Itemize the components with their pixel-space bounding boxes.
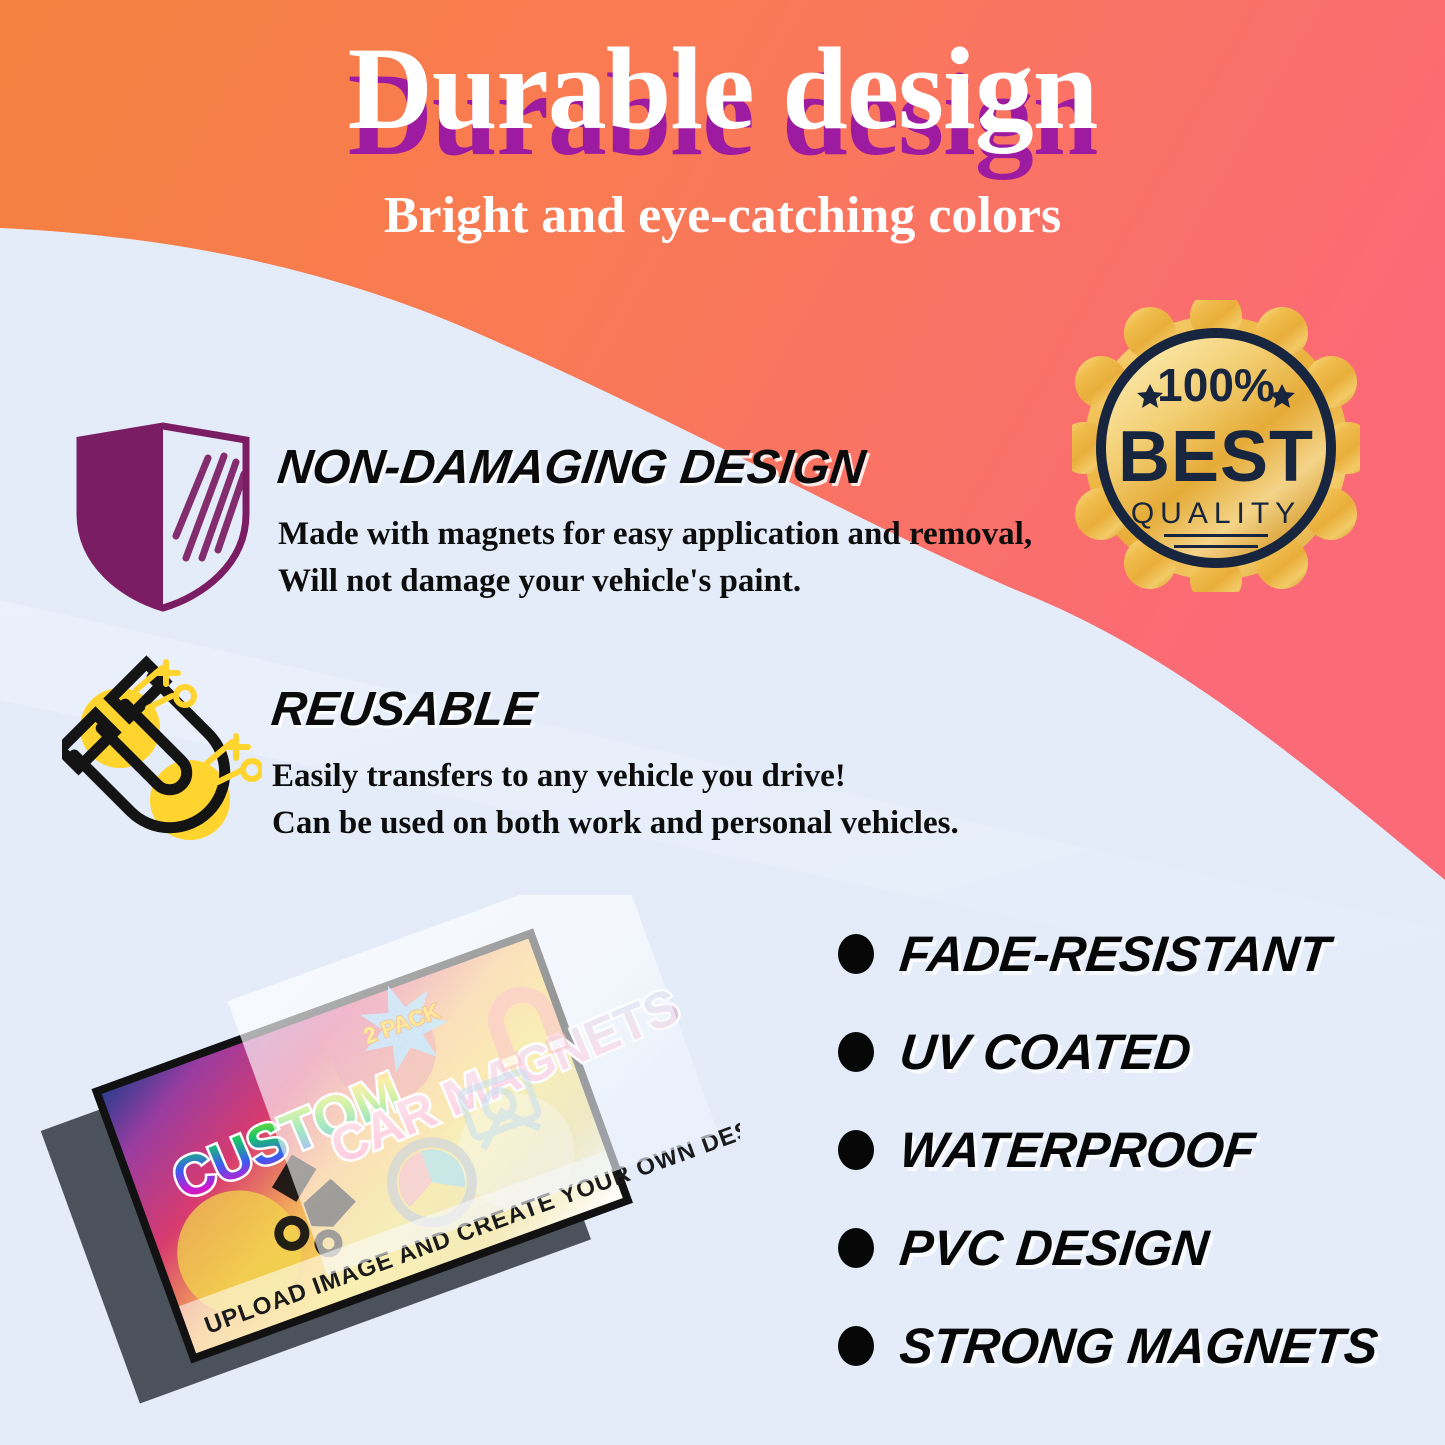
best-quality-badge: 100% BEST QUALITY (1072, 300, 1360, 592)
page-subtitle: Bright and eye-catching colors (0, 186, 1445, 245)
list-item-label: FADE-RESISTANT (897, 925, 1333, 983)
feature-title: REUSABLE (269, 682, 962, 737)
product-photo: CUSTOM CAR MAGNETS 2 PACK (40, 895, 740, 1415)
list-item: STRONG MAGNETS (838, 1297, 1418, 1395)
feature-body: NON-DAMAGING DESIGN Made with magnets fo… (278, 440, 1032, 605)
page-title: Durable design (0, 30, 1445, 148)
list-item-label: STRONG MAGNETS (897, 1317, 1381, 1375)
list-item: WATERPROOF (838, 1101, 1418, 1199)
list-item-label: WATERPROOF (897, 1121, 1258, 1179)
bullet-dot-icon (838, 934, 874, 974)
list-item: PVC DESIGN (838, 1199, 1418, 1297)
bullet-dot-icon (838, 1228, 874, 1268)
list-item: UV COATED (838, 1003, 1418, 1101)
list-item: FADE-RESISTANT (838, 905, 1418, 1003)
list-item-label: PVC DESIGN (897, 1219, 1212, 1277)
feature-non-damaging: NON-DAMAGING DESIGN Made with magnets fo… (68, 418, 1078, 618)
benefits-list: FADE-RESISTANT UV COATED WATERPROOF PVC … (838, 905, 1418, 1395)
feature-title: NON-DAMAGING DESIGN (275, 440, 1036, 495)
title-stack: Durable design Durable design (0, 28, 1445, 178)
bullet-dot-icon (838, 1326, 874, 1366)
bullet-dot-icon (838, 1130, 874, 1170)
bullet-dot-icon (838, 1032, 874, 1072)
feature-line: Made with magnets for easy application a… (278, 511, 1032, 558)
badge-percent: 100% (1157, 359, 1275, 411)
shield-icon (68, 418, 258, 618)
feature-line: Will not damage your vehicle's paint. (278, 558, 1032, 605)
list-item-label: UV COATED (897, 1023, 1194, 1081)
badge-word-main: BEST (1118, 417, 1314, 497)
feature-reusable: REUSABLE Easily transfers to any vehicle… (62, 650, 1072, 870)
header: Durable design Durable design Bright and… (0, 0, 1445, 260)
feature-line: Easily transfers to any vehicle you driv… (272, 753, 959, 800)
magnet-icon (62, 650, 262, 865)
feature-line: Can be used on both work and personal ve… (272, 800, 959, 847)
feature-body: REUSABLE Easily transfers to any vehicle… (272, 682, 959, 847)
infographic-canvas: Durable design Durable design Bright and… (0, 0, 1445, 1445)
badge-word-sub: QUALITY (1131, 497, 1301, 530)
